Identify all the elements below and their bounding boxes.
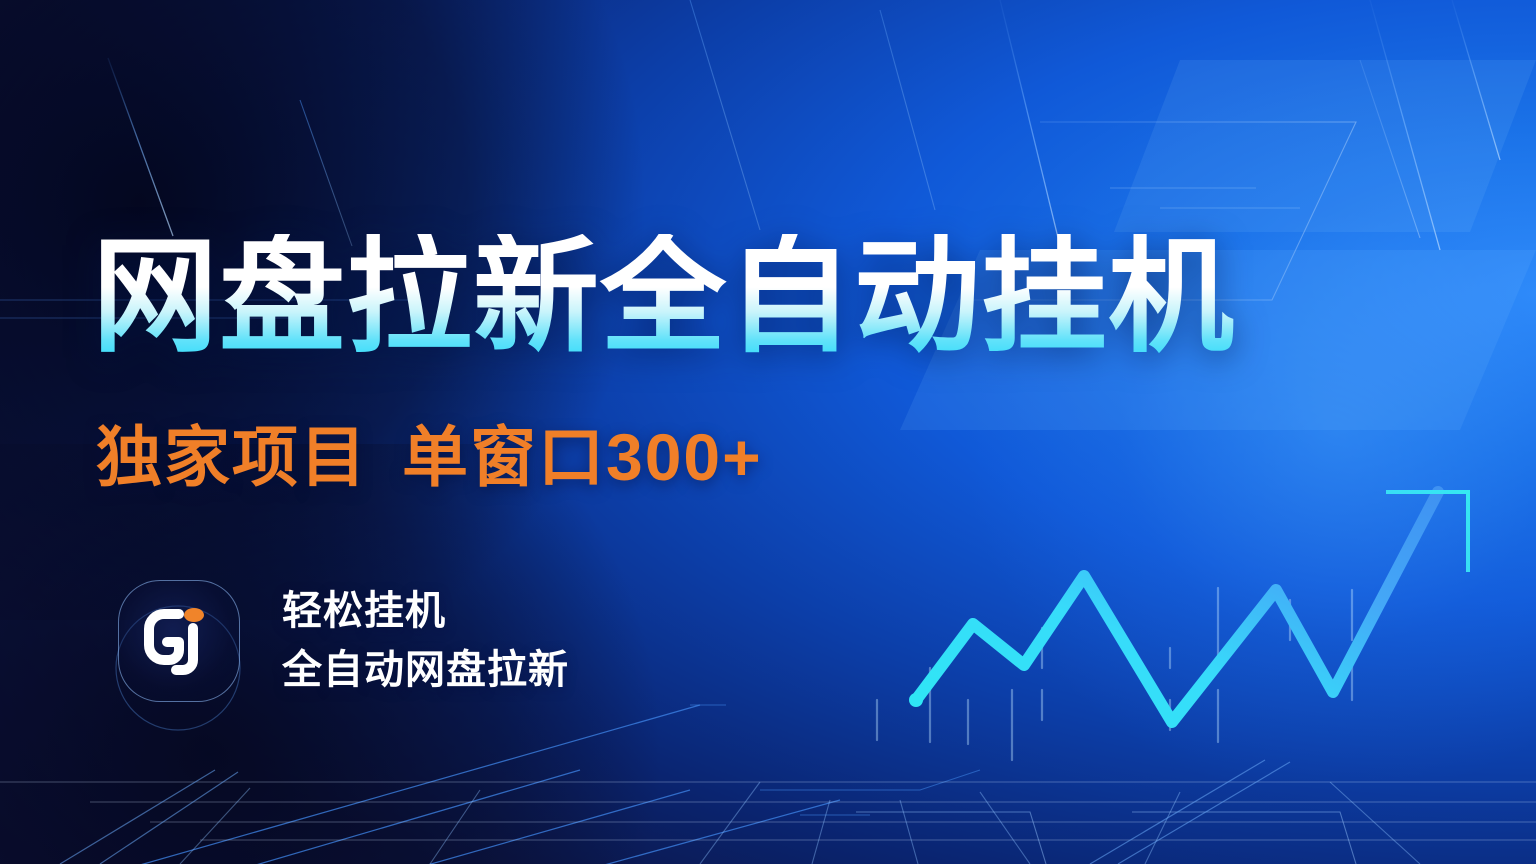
page-title: 网盘拉新全自动挂机 <box>92 234 1235 360</box>
orange-dot-icon <box>184 608 204 622</box>
brand-tagline: 轻松挂机 全自动网盘拉新 <box>282 582 569 700</box>
gj-logo-icon <box>136 598 222 684</box>
subtitle-left: 独家项目 <box>96 420 368 494</box>
promo-banner: 网盘拉新全自动挂机 独家项目单窗口300+ 轻松挂机 全自动网盘拉新 <box>0 0 1536 864</box>
tagline-line-1: 轻松挂机 <box>282 582 569 641</box>
brand-block: 轻松挂机 全自动网盘拉新 <box>118 580 569 702</box>
subtitle-right: 单窗口300+ <box>402 420 763 494</box>
subtitle: 独家项目单窗口300+ <box>96 424 763 490</box>
tagline-line-2: 全自动网盘拉新 <box>282 641 569 700</box>
logo-badge <box>118 580 240 702</box>
